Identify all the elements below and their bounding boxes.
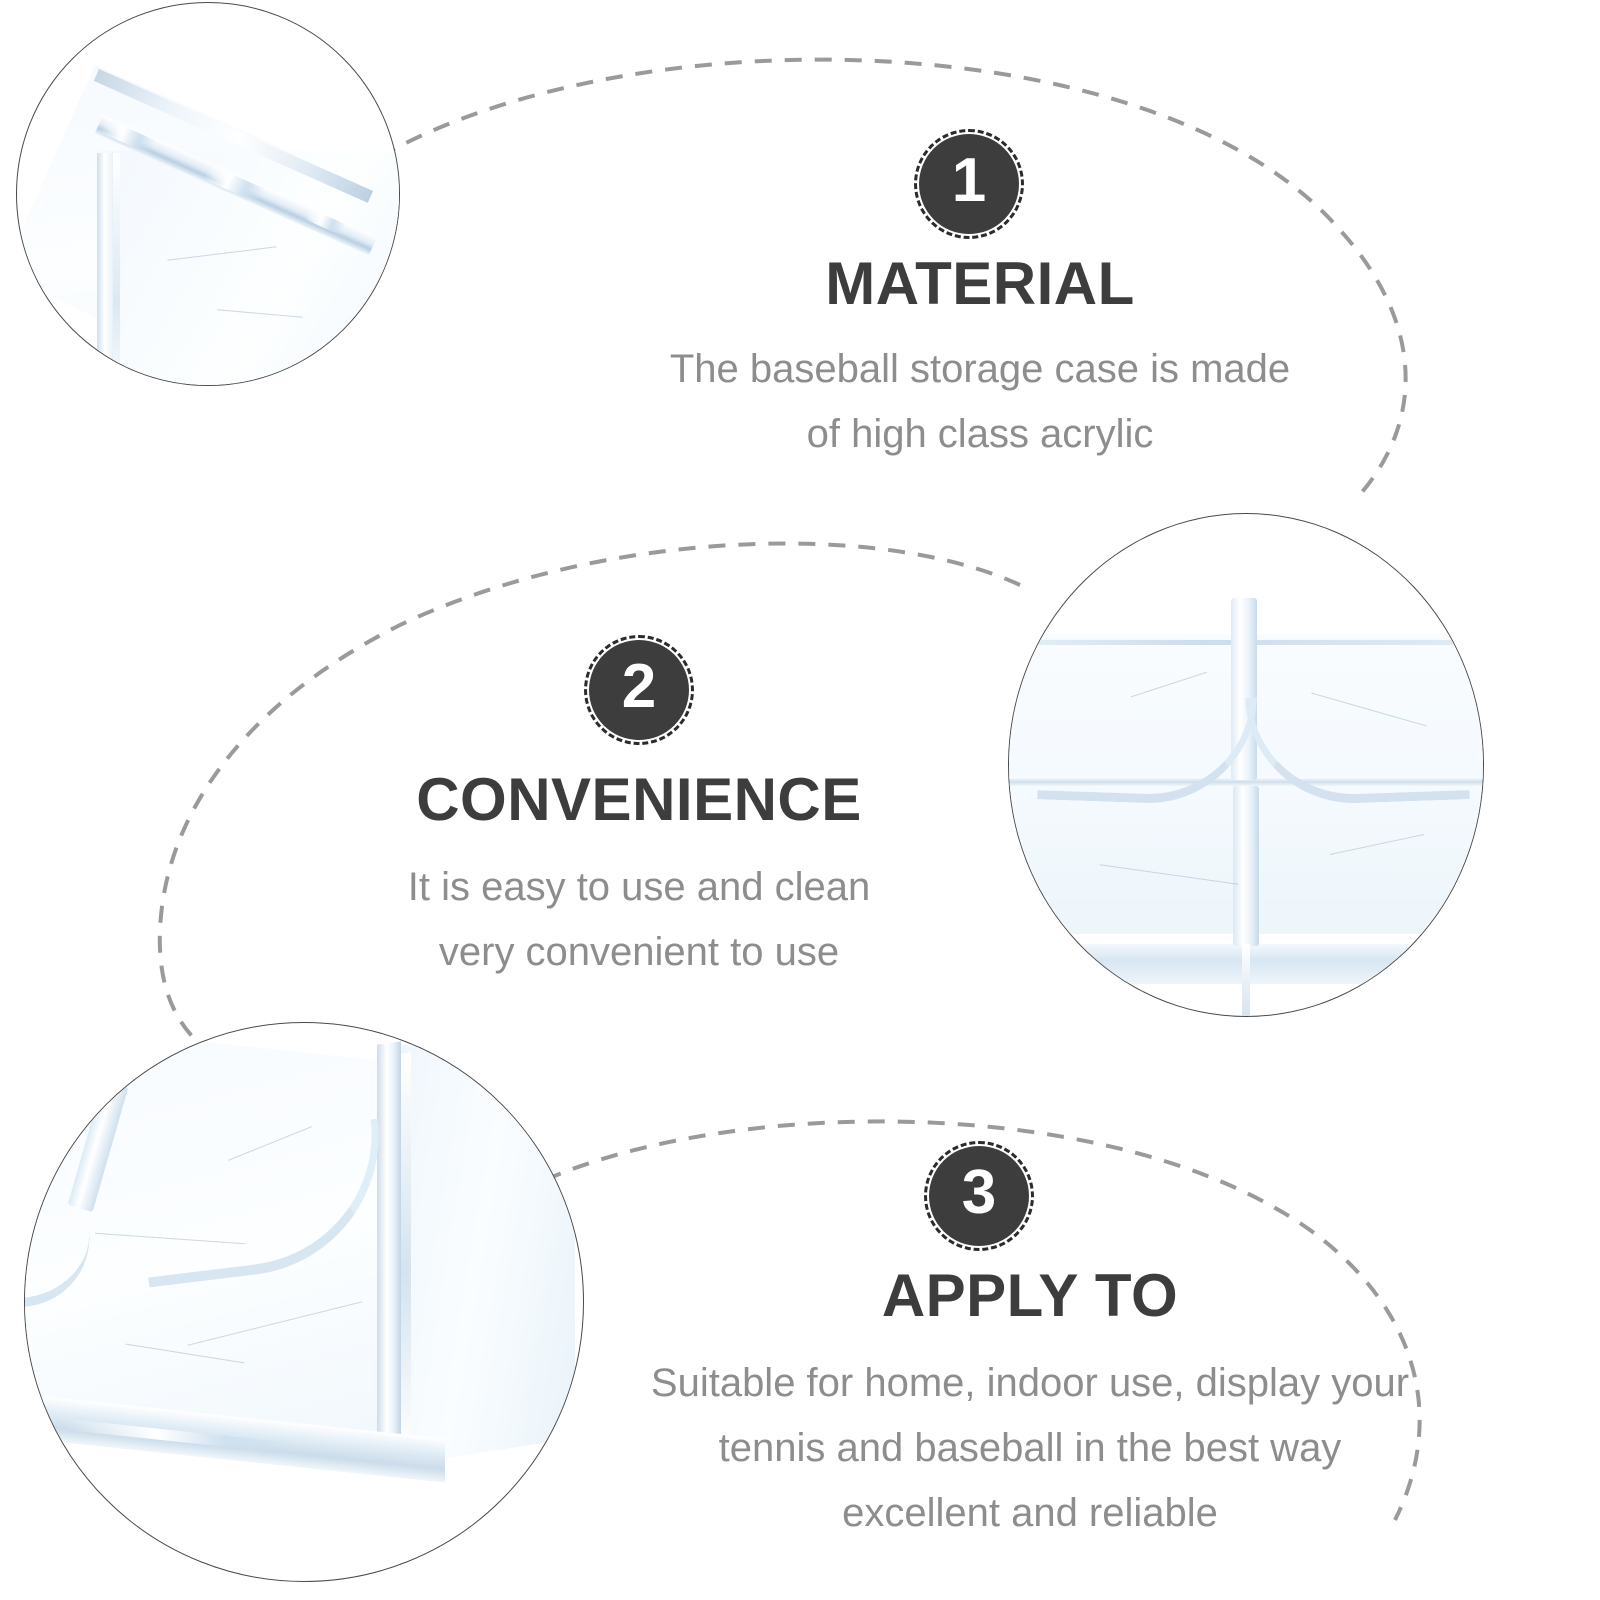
ball-stand-lower-fin xyxy=(1233,786,1259,946)
description-line: excellent and reliable xyxy=(610,1481,1450,1546)
case-corner-seam xyxy=(113,153,120,386)
base-corner-post xyxy=(377,1041,401,1464)
feature-photo-2 xyxy=(1008,513,1484,1017)
feature-badge-2: 2 xyxy=(589,640,689,740)
feature-description-1: The baseball storage case is made of hig… xyxy=(610,337,1350,467)
feature-text-3: APPLY TO Suitable for home, indoor use, … xyxy=(610,1264,1450,1545)
ball-stand-center-seam xyxy=(1242,944,1250,1016)
case-left-post xyxy=(97,153,114,386)
base-right-wall xyxy=(385,1022,575,1468)
feature-text-1: MATERIAL The baseball storage case is ma… xyxy=(610,252,1350,467)
feature-description-2: It is easy to use and clean very conveni… xyxy=(274,855,1004,985)
description-line: It is easy to use and clean xyxy=(274,855,1004,920)
description-line: The baseball storage case is made xyxy=(610,337,1350,402)
feature-photo-1 xyxy=(16,2,400,386)
description-line: Suitable for home, indoor use, display y… xyxy=(610,1351,1450,1416)
feature-badge-number: 2 xyxy=(622,656,656,718)
feature-title-3: APPLY TO xyxy=(610,1264,1450,1327)
acrylic-case-corner-hinge-photo xyxy=(17,3,399,385)
feature-badge-3: 3 xyxy=(929,1146,1029,1246)
feature-title-2: CONVENIENCE xyxy=(274,768,1004,831)
feature-badge-1: 1 xyxy=(919,134,1019,234)
feature-photo-3 xyxy=(24,1022,584,1582)
feature-badge-number: 1 xyxy=(952,150,986,212)
acrylic-case-ball-stand-photo xyxy=(1009,514,1483,1016)
description-line: tennis and baseball in the best way xyxy=(610,1416,1450,1481)
acrylic-case-base-corner-photo xyxy=(25,1023,583,1581)
feature-text-2: CONVENIENCE It is easy to use and clean … xyxy=(274,768,1004,985)
description-line: very convenient to use xyxy=(274,920,1004,985)
description-line: of high class acrylic xyxy=(610,402,1350,467)
infographic-page: 1 MATERIAL The baseball storage case is … xyxy=(0,0,1600,1600)
feature-description-3: Suitable for home, indoor use, display y… xyxy=(610,1351,1450,1545)
base-corner-glint xyxy=(401,1052,411,1453)
feature-badge-number: 3 xyxy=(962,1162,996,1224)
feature-title-1: MATERIAL xyxy=(610,252,1350,315)
